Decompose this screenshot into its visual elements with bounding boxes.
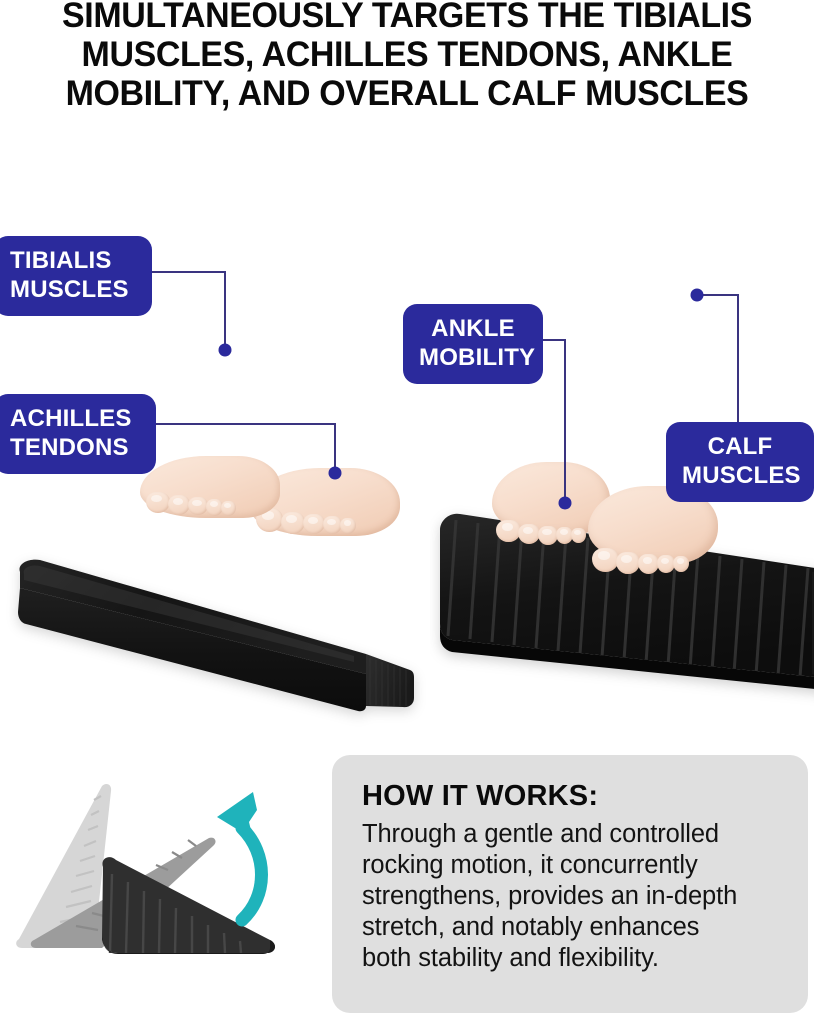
headline-line-3: MOBILITY, AND OVERALL CALF MUSCLES [12, 74, 802, 113]
callout-tibialis-line-2: MUSCLES [10, 275, 136, 304]
how-it-works-body-line-1: Through a gentle and controlled [362, 819, 782, 850]
page-title: SIMULTANEOUSLY TARGETS THE TIBIALIS MUSC… [12, 0, 802, 113]
how-it-works-body-line-5: both stability and flexibility. [362, 943, 782, 974]
callout-ankle-line-2: MOBILITY [419, 343, 527, 372]
how-it-works-body-line-4: stretch, and notably enhances [362, 912, 782, 943]
callout-calf-muscles[interactable]: CALF MUSCLES [666, 422, 814, 502]
how-it-works-title: HOW IT WORKS: [362, 779, 782, 813]
callout-tibialis-line-1: TIBIALIS [10, 246, 136, 275]
rocking-motion-diagram [6, 770, 316, 985]
callout-achilles-tendons[interactable]: ACHILLES TENDONS [0, 394, 156, 474]
callout-calf-line-2: MUSCLES [682, 461, 798, 490]
callout-tibialis-muscles[interactable]: TIBIALIS MUSCLES [0, 236, 152, 316]
headline-line-2: MUSCLES, ACHILLES TENDONS, ANKLE [12, 35, 802, 74]
callout-ankle-mobility[interactable]: ANKLE MOBILITY [403, 304, 543, 384]
callout-achilles-line-1: ACHILLES [10, 404, 140, 433]
callout-ankle-line-1: ANKLE [419, 314, 527, 343]
callout-calf-line-1: CALF [682, 432, 798, 461]
slant-board-smooth-side [14, 538, 414, 718]
how-it-works-panel: HOW IT WORKS: Through a gentle and contr… [332, 755, 808, 1013]
how-it-works-body: Through a gentle and controlled rocking … [362, 819, 782, 974]
rocking-arrow-icon [217, 792, 262, 920]
callout-achilles-line-2: TENDONS [10, 433, 140, 462]
how-it-works-body-line-2: rocking motion, it concurrently [362, 850, 782, 881]
headline-line-1: SIMULTANEOUSLY TARGETS THE TIBIALIS [12, 0, 802, 35]
how-it-works-body-line-3: strengthens, provides an in-depth [362, 881, 782, 912]
